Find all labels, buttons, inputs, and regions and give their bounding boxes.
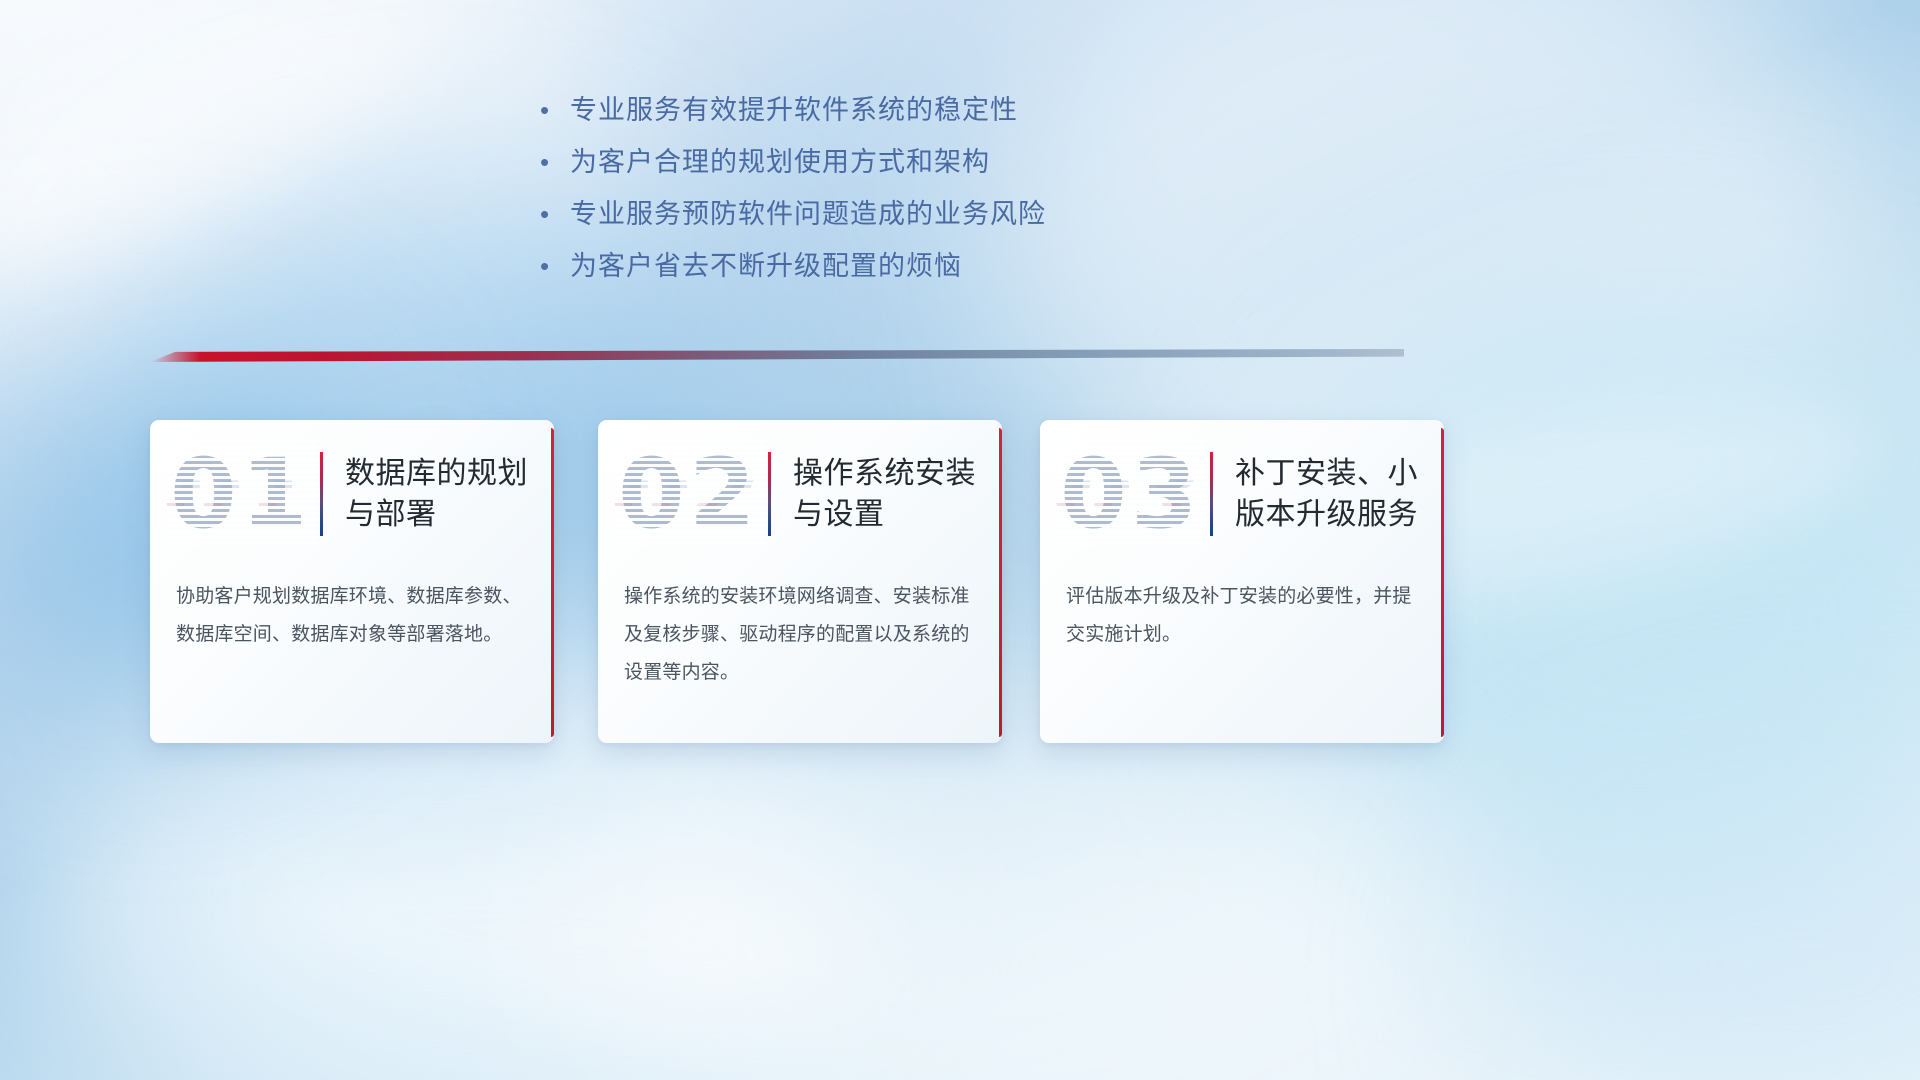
card-title: 补丁安装、小版本升级服务 — [1235, 453, 1444, 536]
background-bloom — [1500, 760, 1920, 1080]
list-item: • 为客户省去不断升级配置的烦恼 — [540, 244, 1180, 296]
slide-canvas: • 专业服务有效提升软件系统的稳定性 • 为客户合理的规划使用方式和架构 • 专… — [0, 0, 1920, 1080]
card-body-text: 评估版本升级及补丁安装的必要性，并提交实施计划。 — [1040, 568, 1444, 654]
list-item: • 专业服务预防软件问题造成的业务风险 — [540, 192, 1180, 244]
bullet-dot-icon: • — [540, 253, 570, 279]
list-item-label: 为客户合理的规划使用方式和架构 — [570, 140, 990, 179]
benefits-bullet-list: • 专业服务有效提升软件系统的稳定性 • 为客户合理的规划使用方式和架构 • 专… — [540, 88, 1180, 296]
card-number-label: 03 — [1060, 446, 1202, 542]
background-bloom — [0, 0, 620, 460]
list-item: • 为客户合理的规划使用方式和架构 — [540, 140, 1180, 192]
background-bloom — [560, 700, 1460, 1080]
bullet-dot-icon: • — [540, 201, 570, 227]
list-item: • 专业服务有效提升软件系统的稳定性 — [540, 88, 1180, 140]
card-title: 操作系统安装与设置 — [793, 453, 1002, 536]
background-streak — [234, 827, 886, 1043]
card-number-label: 02 — [618, 446, 760, 542]
card-header: 01 01 01 数据库的规划与部署 — [150, 420, 554, 568]
service-card-02[interactable]: 02 02 02 操作系统安装与设置 操作系统的安装环境网络调查、安装标准及复核… — [598, 420, 1002, 743]
card-title: 数据库的规划与部署 — [345, 453, 554, 536]
card-body-text: 操作系统的安装环境网络调查、安装标准及复核步骤、驱动程序的配置以及系统的设置等内… — [598, 568, 1002, 692]
bullet-dot-icon: • — [540, 149, 570, 175]
title-accent-rule — [768, 452, 771, 536]
card-number-watermark: 01 01 01 — [170, 440, 310, 548]
divider-bar — [150, 349, 1404, 362]
background-streak — [0, 0, 448, 309]
list-item-label: 专业服务预防软件问题造成的业务风险 — [570, 192, 1046, 231]
service-card-03[interactable]: 03 03 03 补丁安装、小版本升级服务 评估版本升级及补丁安装的必要性，并提… — [1040, 420, 1444, 743]
bullet-dot-icon: • — [540, 97, 570, 123]
gradient-divider — [150, 349, 1404, 362]
service-card-01[interactable]: 01 01 01 数据库的规划与部署 协助客户规划数据库环境、数据库参数、数据库… — [150, 420, 554, 743]
card-header: 03 03 03 补丁安装、小版本升级服务 — [1040, 420, 1444, 568]
list-item-label: 为客户省去不断升级配置的烦恼 — [570, 244, 962, 283]
card-number-watermark: 02 02 02 — [618, 440, 758, 548]
card-header: 02 02 02 操作系统安装与设置 — [598, 420, 1002, 568]
card-body-text: 协助客户规划数据库环境、数据库参数、数据库空间、数据库对象等部署落地。 — [150, 568, 554, 654]
title-accent-rule — [1210, 452, 1213, 536]
card-number-watermark: 03 03 03 — [1060, 440, 1200, 548]
card-number-label: 01 — [170, 446, 312, 542]
title-accent-rule — [320, 452, 323, 536]
list-item-label: 专业服务有效提升软件系统的稳定性 — [570, 88, 1018, 127]
